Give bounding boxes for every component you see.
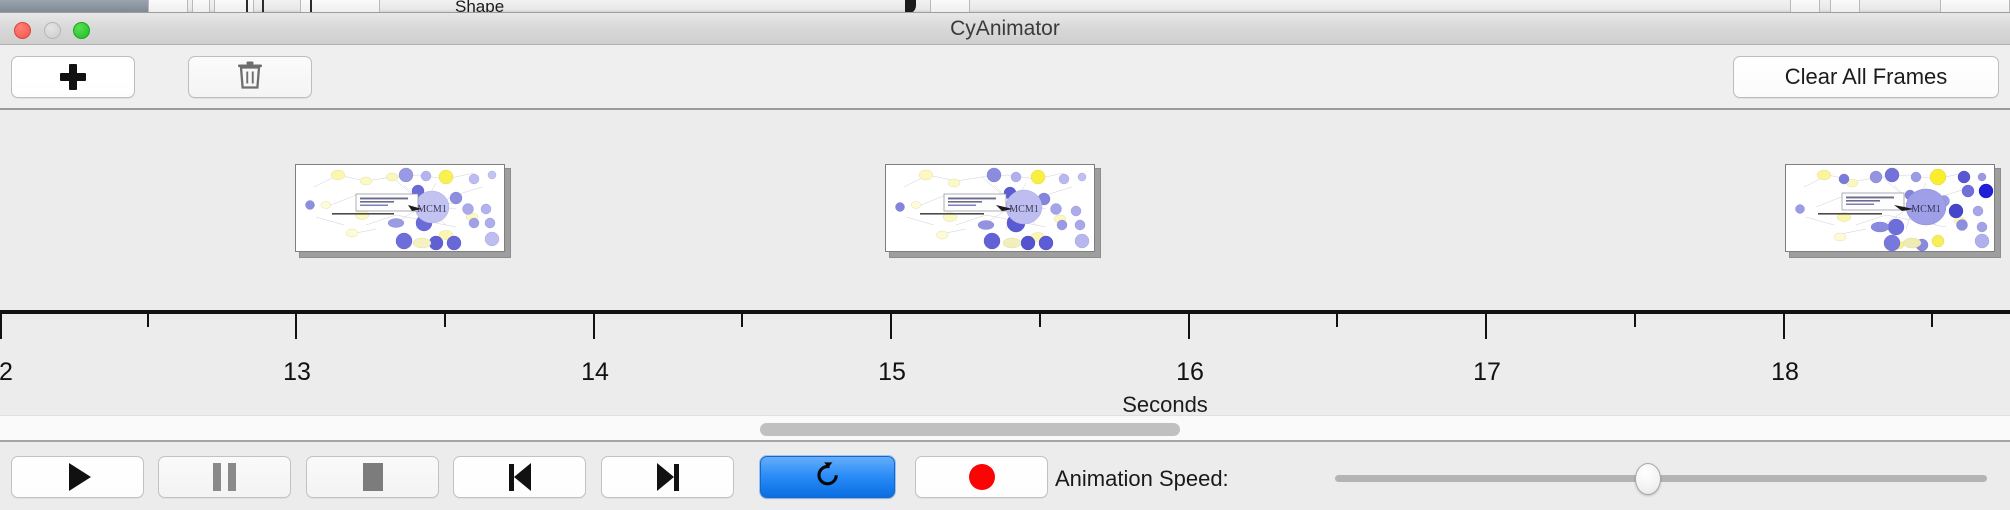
frames-layer: MCM1 [0, 110, 2010, 310]
add-frame-button[interactable] [11, 56, 135, 98]
ruler-label: 17 [1473, 358, 1501, 387]
animation-speed-slider[interactable] [1335, 475, 1987, 482]
ruler-tick-minor [444, 314, 446, 327]
delete-frame-button[interactable] [188, 56, 312, 98]
pause-button[interactable] [158, 456, 291, 498]
play-icon [69, 463, 91, 491]
clear-all-frames-label: Clear All Frames [1785, 64, 1948, 90]
ruler-tick-major [1188, 314, 1190, 339]
play-button[interactable] [11, 456, 144, 498]
ruler-tick-major [295, 314, 297, 339]
plus-icon [60, 64, 86, 90]
slider-track[interactable] [1335, 475, 1987, 482]
ruler-tick-minor [1634, 314, 1636, 327]
ruler-tick-minor [1039, 314, 1041, 327]
window-title: CyAnimator [0, 13, 2010, 45]
record-icon [969, 464, 995, 490]
ruler-tick-major [1783, 314, 1785, 339]
scrollbar-thumb[interactable] [760, 423, 1180, 436]
record-button[interactable] [915, 456, 1048, 498]
loop-button[interactable] [760, 456, 895, 498]
axis-title-text: Seconds [1122, 392, 1208, 415]
timeline-frame-thumbnail[interactable]: MCM1 [295, 164, 505, 252]
svg-text:MCM1: MCM1 [417, 204, 446, 215]
svg-text:MCM1: MCM1 [1911, 204, 1940, 215]
ruler-label: 2 [0, 358, 13, 387]
ruler-label: 13 [283, 358, 311, 387]
trash-icon [236, 60, 264, 95]
skip-back-icon [509, 463, 531, 491]
loop-icon [813, 460, 843, 495]
background-window-strip: Shape [0, 0, 2010, 13]
timeline-horizontal-scrollbar[interactable] [0, 415, 2010, 442]
clear-all-frames-button[interactable]: Clear All Frames [1733, 56, 1999, 98]
playback-control-bar: Animation Speed: [0, 444, 2010, 510]
axis-title: Seconds [0, 392, 2010, 415]
ruler-label: 16 [1176, 358, 1204, 387]
window-titlebar: CyAnimator [0, 13, 2010, 45]
ruler-tick-minor [741, 314, 743, 327]
ruler-tick-major [593, 314, 595, 339]
ruler-tick-major [890, 314, 892, 339]
previous-frame-button[interactable] [453, 456, 586, 498]
toolbar: Clear All Frames [0, 45, 2010, 110]
ruler-tick-minor [147, 314, 149, 327]
skip-forward-icon [657, 463, 679, 491]
ruler-tick-major [0, 314, 2, 339]
ruler-label: 14 [581, 358, 609, 387]
next-frame-button[interactable] [601, 456, 734, 498]
timeline-frame-thumbnail[interactable]: MCM1 [885, 164, 1095, 252]
stop-button[interactable] [306, 456, 439, 498]
svg-text:MCM1: MCM1 [1009, 204, 1038, 215]
ruler-tick-major [1485, 314, 1487, 339]
ruler-baseline [0, 310, 2010, 314]
animation-speed-label: Animation Speed: [1055, 466, 1229, 492]
ruler-tick-minor [1336, 314, 1338, 327]
timeline-ruler[interactable]: 2 13 14 15 16 17 18 Seconds [0, 310, 2010, 415]
pause-icon [213, 463, 236, 491]
stop-icon [363, 463, 383, 491]
timeline-panel[interactable]: MCM1 [0, 110, 2010, 415]
timeline-frame-thumbnail[interactable]: MCM1 [1785, 164, 1995, 252]
ruler-label: 15 [878, 358, 906, 387]
ruler-tick-minor [1931, 314, 1933, 327]
ruler-label: 18 [1771, 358, 1799, 387]
slider-thumb[interactable] [1635, 463, 1661, 495]
